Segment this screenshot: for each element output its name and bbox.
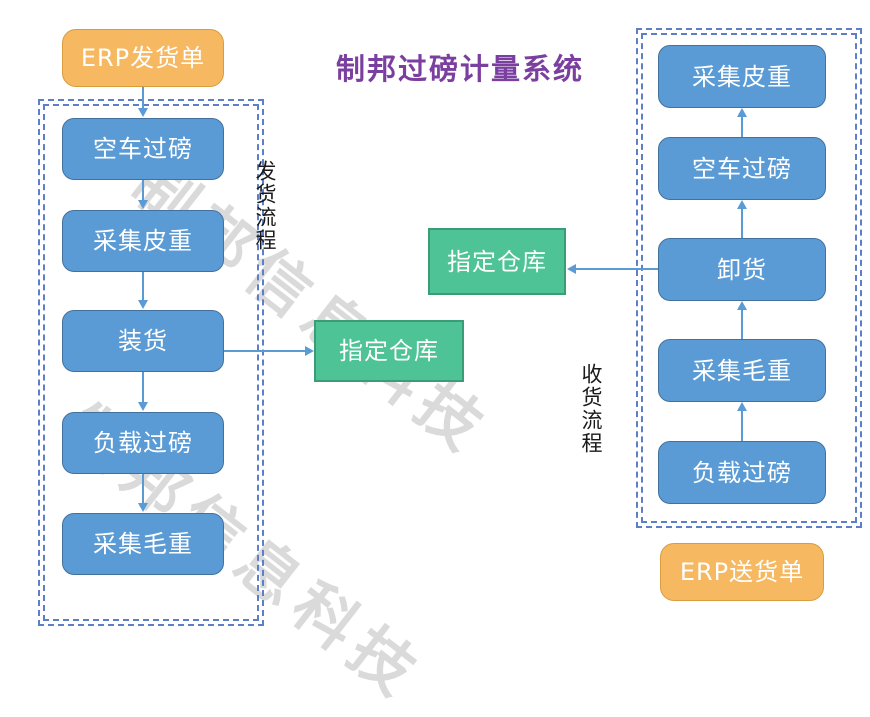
- node-shipping-loaded-weigh[interactable]: 负载过磅: [62, 412, 224, 474]
- arrow-down-icon: [138, 402, 148, 411]
- node-erp-delivery-order[interactable]: ERP送货单: [660, 543, 824, 601]
- node-shipping-collect-tare[interactable]: 采集皮重: [62, 210, 224, 272]
- node-receiving-unload-goods[interactable]: 卸货: [658, 238, 826, 301]
- receiving-group-label: 收货流程: [580, 363, 602, 455]
- connector-line: [576, 268, 658, 270]
- connector-line: [142, 87, 144, 109]
- arrow-up-icon: [737, 402, 747, 411]
- node-designated-warehouse-receiving[interactable]: 指定仓库: [428, 228, 566, 295]
- flowchart-canvas: 制邦信息科技 制邦信息科技 制邦过磅计量系统 ERP发货单 空车过磅 采集皮重 …: [0, 0, 870, 637]
- node-receiving-loaded-weigh[interactable]: 负载过磅: [658, 441, 826, 504]
- connector-line: [142, 180, 144, 201]
- connector-line: [142, 372, 144, 403]
- arrow-down-icon: [138, 503, 148, 512]
- arrow-left-icon: [567, 264, 576, 274]
- connector-line: [224, 350, 306, 352]
- connector-line: [741, 209, 743, 239]
- arrow-down-icon: [138, 108, 148, 117]
- arrow-right-icon: [305, 346, 314, 356]
- diagram-title: 制邦过磅计量系统: [336, 46, 584, 88]
- connector-line: [741, 411, 743, 442]
- node-receiving-collect-gross[interactable]: 采集毛重: [658, 339, 826, 402]
- node-shipping-empty-weigh[interactable]: 空车过磅: [62, 118, 224, 180]
- node-receiving-collect-tare[interactable]: 采集皮重: [658, 45, 826, 108]
- arrow-up-icon: [737, 200, 747, 209]
- node-designated-warehouse-shipping[interactable]: 指定仓库: [314, 320, 464, 382]
- connector-line: [142, 272, 144, 301]
- shipping-group-label: 发货流程: [254, 160, 276, 252]
- connector-line: [142, 474, 144, 504]
- arrow-up-icon: [737, 301, 747, 310]
- arrow-down-icon: [138, 300, 148, 309]
- connector-line: [741, 117, 743, 138]
- node-shipping-load-goods[interactable]: 装货: [62, 310, 224, 372]
- arrow-down-icon: [138, 200, 148, 209]
- node-shipping-collect-gross[interactable]: 采集毛重: [62, 513, 224, 575]
- arrow-up-icon: [737, 108, 747, 117]
- node-receiving-empty-weigh[interactable]: 空车过磅: [658, 137, 826, 200]
- connector-line: [741, 310, 743, 340]
- node-erp-shipping-order[interactable]: ERP发货单: [62, 29, 224, 87]
